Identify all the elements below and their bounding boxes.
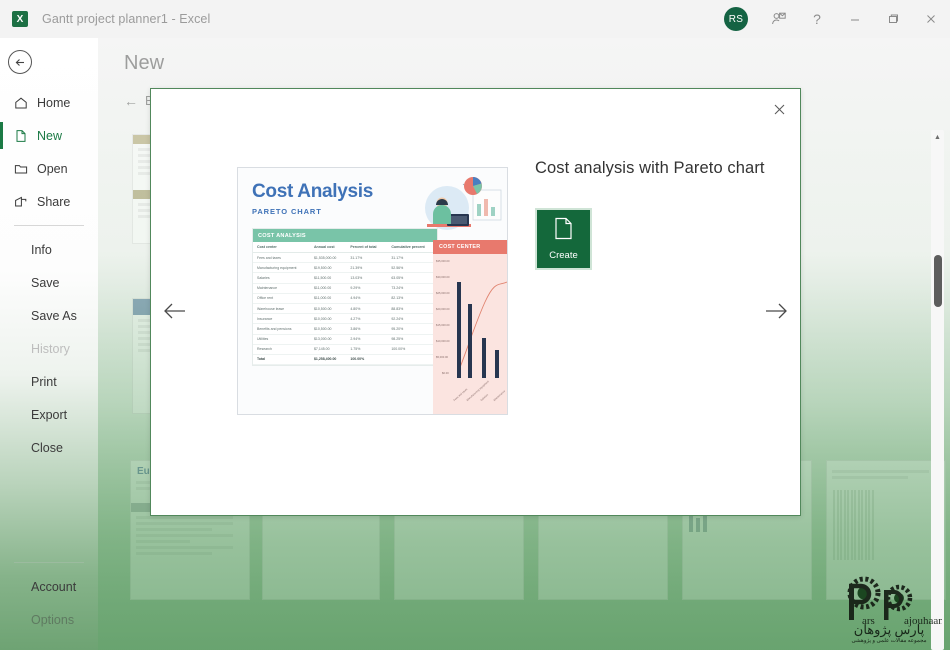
vertical-scrollbar[interactable]: ▲ xyxy=(931,130,944,650)
cell: $10,500.00 xyxy=(310,324,346,334)
cell: 52.56% xyxy=(387,263,437,273)
sidebar-item-label: Open xyxy=(37,162,68,176)
cell: 82.13% xyxy=(387,293,437,303)
backstage-sidebar: Home New Open xyxy=(0,38,98,650)
table-row: Fees and taxes $1,535,000.00 31.17% 31.1… xyxy=(253,253,437,263)
document-icon xyxy=(554,217,573,245)
sidebar-item-home[interactable]: Home xyxy=(0,86,98,119)
cell: 4.27% xyxy=(346,314,387,324)
cell: 31.17% xyxy=(387,253,437,263)
sidebar-item-new[interactable]: New xyxy=(0,119,98,152)
cell: Insurance xyxy=(253,314,310,324)
column-header: Cumulative percent xyxy=(387,242,437,253)
table-row: Insurance $10,000.00 4.27% 92.24% xyxy=(253,314,437,324)
cell: 92.24% xyxy=(387,314,437,324)
sidebar-item-save[interactable]: Save xyxy=(0,266,98,299)
sidebar-divider xyxy=(14,225,84,226)
new-document-icon xyxy=(14,129,34,143)
sidebar-item-label: Account xyxy=(31,580,76,594)
cell: $19,500.00 xyxy=(310,263,346,273)
cell: Warehouse lease xyxy=(253,303,310,313)
window-controls: RS ? xyxy=(724,0,950,38)
scroll-up-icon[interactable]: ▲ xyxy=(931,130,944,144)
cell: Maintenance xyxy=(253,283,310,293)
bar xyxy=(457,282,461,378)
bar xyxy=(468,304,472,378)
template-name: Cost analysis with Pareto chart xyxy=(535,159,775,178)
template-preview-dialog: Cost Analysis PARETO CHART xyxy=(150,88,801,516)
cell: $1,258,400.00 xyxy=(310,354,346,364)
cell: 13.03% xyxy=(346,273,387,283)
sidebar-item-label: Print xyxy=(31,375,57,389)
sidebar-item-label: Info xyxy=(31,243,52,257)
document-title: Gantt project planner1 - Excel xyxy=(42,12,210,26)
cell: 100.00% xyxy=(387,344,437,354)
cell: 98.25% xyxy=(387,334,437,344)
sidebar-secondary-nav: Info Save Save As History Print Export C… xyxy=(0,233,98,464)
back-arrow-icon[interactable] xyxy=(8,50,32,74)
close-icon[interactable] xyxy=(766,96,792,122)
sidebar-primary-nav: Home New Open xyxy=(0,86,98,218)
share-person-icon[interactable] xyxy=(760,0,798,38)
cell: 2.94% xyxy=(346,334,387,344)
excel-backstage-window: Gantt project planner1 - Excel RS ? xyxy=(0,0,950,650)
cell: Benefits and pensions xyxy=(253,324,310,334)
sidebar-bottom-divider xyxy=(14,562,84,563)
sidebar-item-label: Save As xyxy=(31,309,77,323)
create-button-label: Create xyxy=(549,250,578,261)
table-row: Benefits and pensions $10,500.00 3.86% 9… xyxy=(253,324,437,334)
share-icon xyxy=(14,195,34,209)
cell: 3.86% xyxy=(346,324,387,334)
table-row: Manufacturing equipment $19,500.00 21.39… xyxy=(253,263,437,273)
cell: $10,000.00 xyxy=(310,314,346,324)
sidebar-item-label: Options xyxy=(31,613,74,627)
cell: 100.00% xyxy=(346,354,387,364)
cell: Total xyxy=(253,354,310,364)
cell: $1,535,000.00 xyxy=(310,253,346,263)
cell: 31.17% xyxy=(346,253,387,263)
analyst-illustration xyxy=(417,174,503,238)
cell: Research xyxy=(253,344,310,354)
table-title: COST ANALYSIS xyxy=(253,229,437,242)
cell: $11,000.00 xyxy=(310,293,346,303)
sidebar-item-print[interactable]: Print xyxy=(0,365,98,398)
back-arrow-icon: ← xyxy=(124,93,138,109)
cell: 73.24% xyxy=(387,283,437,293)
cell: $11,000.00 xyxy=(310,283,346,293)
arrow-left-icon[interactable] xyxy=(153,289,197,333)
minimize-icon[interactable] xyxy=(836,0,874,38)
cell: 88.83% xyxy=(387,303,437,313)
sidebar-item-share[interactable]: Share xyxy=(0,185,98,218)
cost-analysis-template-art: Cost Analysis PARETO CHART xyxy=(238,168,508,415)
cell: 4.94% xyxy=(346,293,387,303)
sidebar-item-label: Save xyxy=(31,276,60,290)
cell: 63.05% xyxy=(387,273,437,283)
cell: Fees and taxes xyxy=(253,253,310,263)
sidebar-item-label: New xyxy=(37,129,62,143)
table-row: Office rent $11,000.00 4.94% 82.13% xyxy=(253,293,437,303)
sidebar-item-label: History xyxy=(31,342,70,356)
scrollbar-thumb[interactable] xyxy=(934,255,942,307)
cell: $13,000.00 xyxy=(310,334,346,344)
column-header: Annual cost xyxy=(310,242,346,253)
cell: 21.39% xyxy=(346,263,387,273)
table-row: Salaries $11,500.00 13.03% 63.05% xyxy=(253,273,437,283)
cell: $11,500.00 xyxy=(310,273,346,283)
avatar[interactable]: RS xyxy=(724,7,748,31)
cell: 95.20% xyxy=(387,324,437,334)
column-header: Percent of total xyxy=(346,242,387,253)
watermark-persian-name: پارس پژوهان xyxy=(836,622,942,638)
title-bar: Gantt project planner1 - Excel RS ? xyxy=(0,0,950,38)
watermark-logo: ars ajouhaan پارس پژوهان مجموعه مقالات ع… xyxy=(836,576,942,646)
bar xyxy=(482,338,486,378)
cost-analysis-table: COST ANALYSIS Cost center Annual cost Pe… xyxy=(252,228,438,366)
cell xyxy=(387,354,437,364)
close-icon[interactable] xyxy=(912,0,950,38)
template-detail-panel: Cost analysis with Pareto chart Create xyxy=(535,159,775,270)
sidebar-item-label: Export xyxy=(31,408,67,422)
sidebar-item-label: Close xyxy=(31,441,63,455)
sidebar-item-options[interactable]: Options xyxy=(0,603,98,636)
watermark-persian-tagline: مجموعه مقالات علمی و پژوهشی xyxy=(836,638,942,644)
table-total-row: Total $1,258,400.00 100.00% xyxy=(253,354,437,364)
excel-app-icon xyxy=(12,11,28,27)
open-folder-icon xyxy=(14,162,34,176)
home-icon xyxy=(14,96,34,110)
chart-panel-title: COST CENTER xyxy=(433,240,508,254)
help-icon[interactable]: ? xyxy=(798,0,836,38)
cell: $10,500.00 xyxy=(310,303,346,313)
column-header: Cost center xyxy=(253,242,310,253)
sidebar-item-open[interactable]: Open xyxy=(0,152,98,185)
table-header-row: Cost center Annual cost Percent of total… xyxy=(253,242,437,253)
sidebar-item-export[interactable]: Export xyxy=(0,398,98,431)
page-title: New xyxy=(124,52,950,75)
cell: Utilities xyxy=(253,334,310,344)
cell: Salaries xyxy=(253,273,310,283)
table-row: Utilities $13,000.00 2.94% 98.25% xyxy=(253,334,437,344)
arrow-right-icon[interactable] xyxy=(754,289,798,333)
pareto-chart: $35,000.00 $30,000.00 $25,000.00 $20,000… xyxy=(433,254,508,404)
sidebar-item-label: Home xyxy=(37,96,70,110)
bar xyxy=(495,350,499,378)
cell: $7,145.00 xyxy=(310,344,346,354)
cell: 9.29% xyxy=(346,283,387,293)
table-row: Research $7,145.00 1.75% 100.00% xyxy=(253,344,437,354)
sidebar-bottom-nav: Account Options xyxy=(0,555,98,636)
sidebar-item-info[interactable]: Info xyxy=(0,233,98,266)
sidebar-item-label: Share xyxy=(37,195,70,209)
cell: Manufacturing equipment xyxy=(253,263,310,273)
cell: 1.75% xyxy=(346,344,387,354)
restore-icon[interactable] xyxy=(874,0,912,38)
table-row: Maintenance $11,000.00 9.29% 73.24% xyxy=(253,283,437,293)
table-row: Warehouse lease $10,500.00 4.80% 88.83% xyxy=(253,303,437,313)
cell: 4.80% xyxy=(346,303,387,313)
sidebar-item-history: History xyxy=(0,332,98,365)
sidebar-item-save-as[interactable]: Save As xyxy=(0,299,98,332)
create-button[interactable]: Create xyxy=(535,208,592,270)
cell: Office rent xyxy=(253,293,310,303)
template-preview-image: Cost Analysis PARETO CHART xyxy=(237,167,508,415)
sidebar-item-close[interactable]: Close xyxy=(0,431,98,464)
cost-center-panel: COST CENTER $35,000.00 $30,000.00 $25,00… xyxy=(433,240,508,415)
sidebar-item-account[interactable]: Account xyxy=(0,570,98,603)
